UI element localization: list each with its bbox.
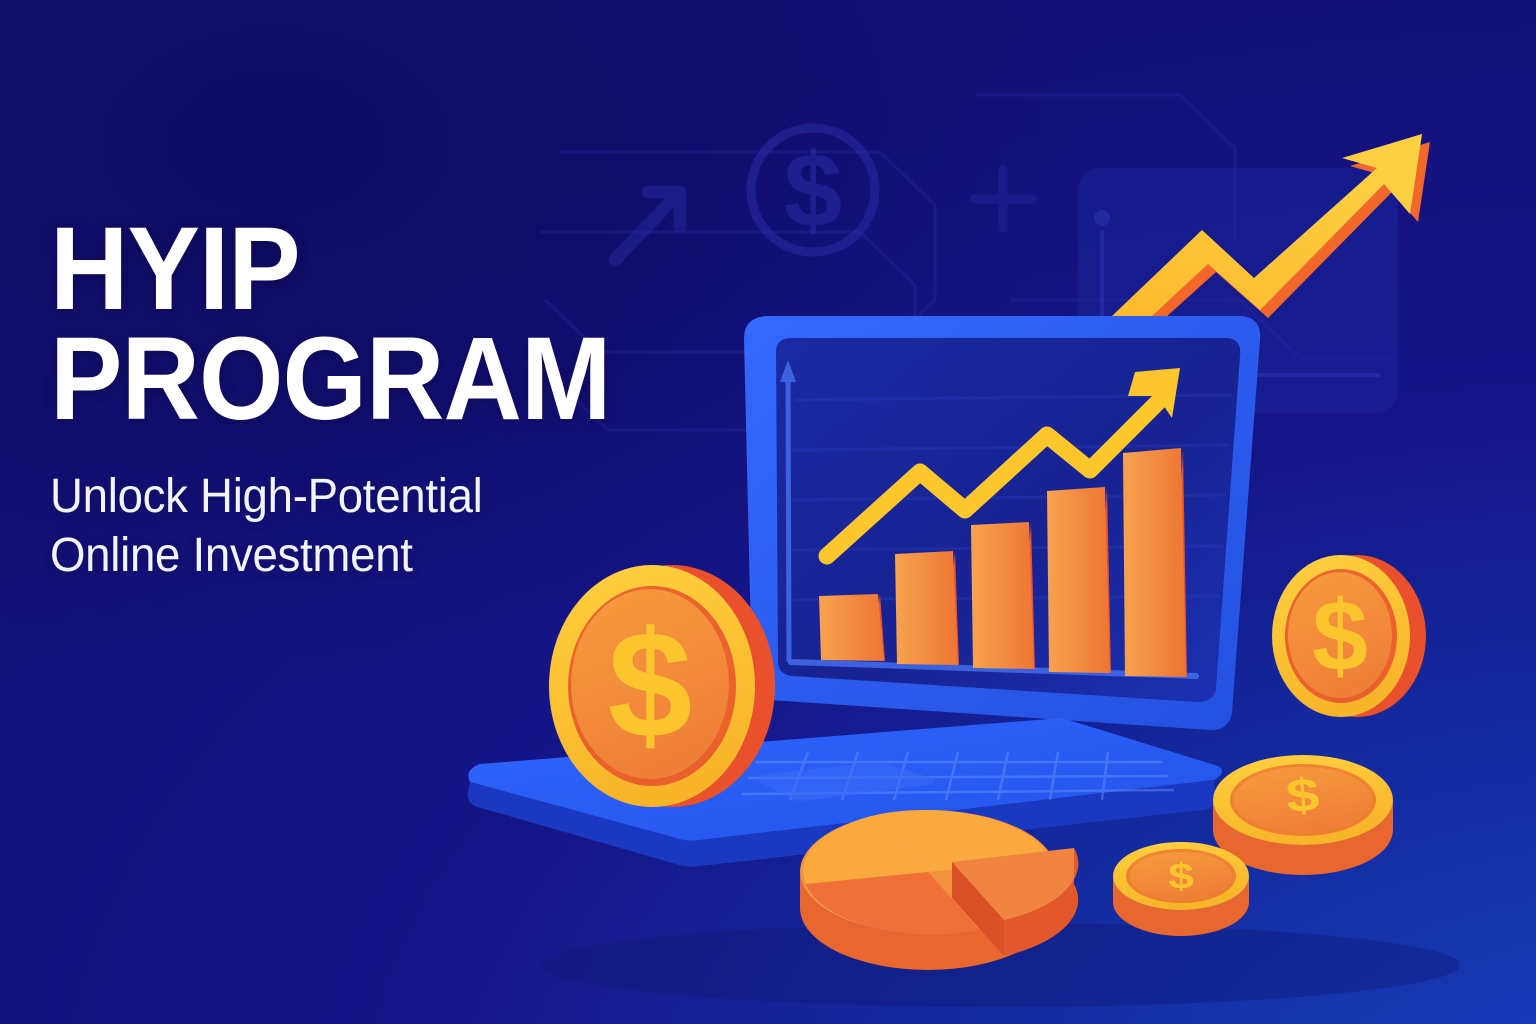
coin-flat-small: $ <box>1113 842 1249 936</box>
pie-chart-3d <box>800 810 1078 970</box>
coin-right-upright: $ <box>1272 555 1426 717</box>
dollar-icon: $ <box>608 600 693 770</box>
dollar-icon: $ <box>1312 580 1368 692</box>
bar-3 <box>971 522 1034 669</box>
dollar-icon: $ <box>1284 768 1321 822</box>
big-trend-arrow <box>1112 134 1430 346</box>
screen-y-axis <box>788 372 789 660</box>
dollar-icon: $ <box>1168 856 1194 896</box>
bar-5 <box>1123 448 1186 677</box>
text-block: HYIP PROGRAM Unlock High-Potential Onlin… <box>50 215 690 586</box>
coin-large-upright: $ <box>549 565 775 807</box>
coin-flat-large: $ <box>1213 755 1393 875</box>
banner-canvas: $ <box>0 0 1536 1024</box>
page-subtitle: Unlock High-Potential Online Investment <box>50 468 658 585</box>
bar-4 <box>1047 487 1110 673</box>
page-title: HYIP PROGRAM <box>50 215 639 434</box>
bar-1 <box>819 594 884 661</box>
bar-2 <box>895 551 958 665</box>
